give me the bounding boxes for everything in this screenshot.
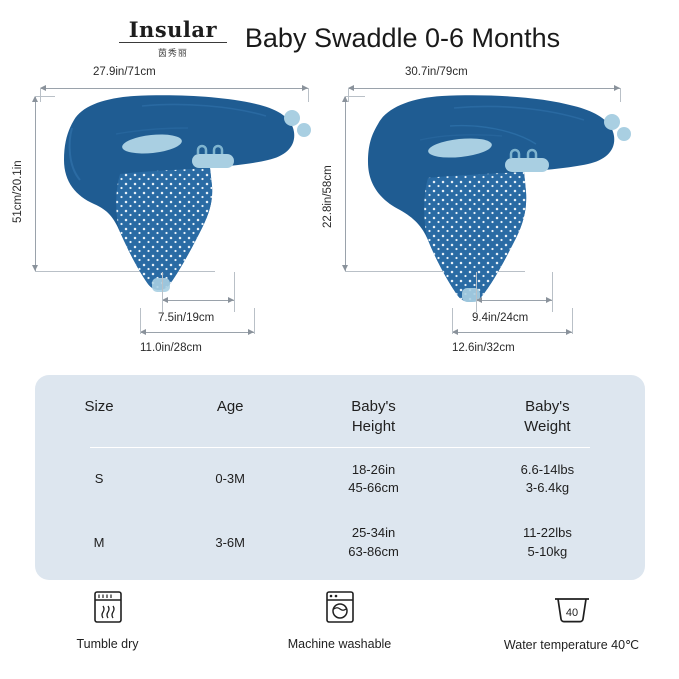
left-top-tick-start <box>40 88 41 102</box>
right-height-dimension-line <box>345 96 346 271</box>
left-outer-dimension-label: 11.0in/28cm <box>140 342 202 354</box>
cell-weight: 11-22lbs 5-10kg <box>450 511 645 575</box>
cell-height-in: 18-26in <box>297 461 450 480</box>
cell-height-cm: 45-66cm <box>297 479 450 498</box>
table-header-row: Size Age Baby's Height Baby's Weight <box>35 391 645 448</box>
cell-weight: 6.6-14lbs 3-6.4kg <box>450 448 645 512</box>
left-outer-tick-end <box>254 308 255 334</box>
right-top-tick-start <box>348 88 349 102</box>
right-height-dimension-label: 22.8in/58cm <box>322 152 334 242</box>
cell-weight-lb: 11-22lbs <box>450 524 645 543</box>
left-inner-tick-start <box>162 272 163 312</box>
column-header-height: Baby's Height <box>297 391 450 448</box>
right-outer-dimension-label: 12.6in/32cm <box>452 342 515 354</box>
right-inner-tick-end <box>552 272 553 312</box>
brand-name: Insular <box>129 19 217 40</box>
care-item-water-temperature: 40 Water temperature 40℃ <box>492 586 652 652</box>
care-label-tumble-dry: Tumble dry <box>76 637 138 651</box>
cell-height: 25-34in 63-86cm <box>297 511 450 575</box>
cell-size: S <box>35 448 163 512</box>
machine-washable-icon <box>323 586 357 630</box>
column-header-weight-line1: Baby's <box>450 397 645 417</box>
cell-height-cm: 63-86cm <box>297 543 450 562</box>
cell-height-in: 25-34in <box>297 524 450 543</box>
swaddle-small-illustration <box>42 82 322 302</box>
table-header: Size Age Baby's Height Baby's Weight <box>35 391 645 448</box>
brand-subtitle: 茵秀丽 <box>158 46 188 59</box>
left-outer-tick-start <box>140 308 141 334</box>
size-chart-table: Size Age Baby's Height Baby's Weight S 0… <box>35 391 645 575</box>
care-label-water-temperature: Water temperature 40℃ <box>504 637 639 652</box>
column-header-size: Size <box>35 391 163 448</box>
table-body: S 0-3M 18-26in 45-66cm 6.6-14lbs 3-6.4kg… <box>35 448 645 575</box>
cell-age: 0-3M <box>163 448 297 512</box>
right-outer-tick-start <box>452 308 453 334</box>
header: Insular 茵秀丽 Baby Swaddle 0-6 Months <box>0 14 679 62</box>
column-header-height-line1: Baby's <box>297 397 450 417</box>
diagram-area: 27.9in/71cm 51cm/20.1in <box>0 62 679 362</box>
care-label-machine-washable: Machine washable <box>288 637 392 651</box>
table-row: S 0-3M 18-26in 45-66cm 6.6-14lbs 3-6.4kg <box>35 448 645 512</box>
size-chart-card: Size Age Baby's Height Baby's Weight S 0… <box>35 375 645 580</box>
cell-size: M <box>35 511 163 575</box>
right-top-dimension-label: 30.7in/79cm <box>405 66 468 78</box>
brand-divider <box>119 42 227 43</box>
care-instructions: Tumble dry Machine washable <box>0 586 679 652</box>
care-item-machine-washable: Machine washable <box>260 586 420 652</box>
brand-logo: Insular 茵秀丽 <box>119 19 227 59</box>
cell-height: 18-26in 45-66cm <box>297 448 450 512</box>
water-temperature-value: 40 <box>565 607 577 619</box>
table-row: M 3-6M 25-34in 63-86cm 11-22lbs 5-10kg <box>35 511 645 575</box>
table-header-divider <box>90 447 590 448</box>
water-temperature-icon: 40 <box>551 586 593 630</box>
swaddle-medium-illustration <box>350 80 635 310</box>
page-title: Baby Swaddle 0-6 Months <box>245 23 560 54</box>
cell-weight-kg: 5-10kg <box>450 543 645 562</box>
column-header-weight: Baby's Weight <box>450 391 645 448</box>
cell-age: 3-6M <box>163 511 297 575</box>
column-header-weight-line2: Weight <box>450 417 645 437</box>
left-inner-tick-end <box>234 272 235 312</box>
right-outer-dimension-line <box>452 332 572 333</box>
cell-weight-kg: 3-6.4kg <box>450 479 645 498</box>
left-top-dimension-label: 27.9in/71cm <box>93 66 156 78</box>
column-header-age: Age <box>163 391 297 448</box>
product-infographic: Insular 茵秀丽 Baby Swaddle 0-6 Months 27.9… <box>0 0 679 679</box>
right-inner-dimension-line <box>476 300 552 301</box>
left-height-dimension-label: 51cm/20.1in <box>12 147 24 237</box>
right-inner-tick-start <box>476 272 477 312</box>
cell-weight-lb: 6.6-14lbs <box>450 461 645 480</box>
left-inner-dimension-label: 7.5in/19cm <box>158 312 214 324</box>
right-outer-tick-end <box>572 308 573 334</box>
column-header-height-line2: Height <box>297 417 450 437</box>
left-inner-dimension-line <box>162 300 234 301</box>
left-height-dimension-line <box>35 96 36 271</box>
care-item-tumble-dry: Tumble dry <box>28 586 188 652</box>
left-outer-dimension-line <box>140 332 254 333</box>
tumble-dry-icon <box>91 586 125 630</box>
right-inner-dimension-label: 9.4in/24cm <box>472 312 528 324</box>
